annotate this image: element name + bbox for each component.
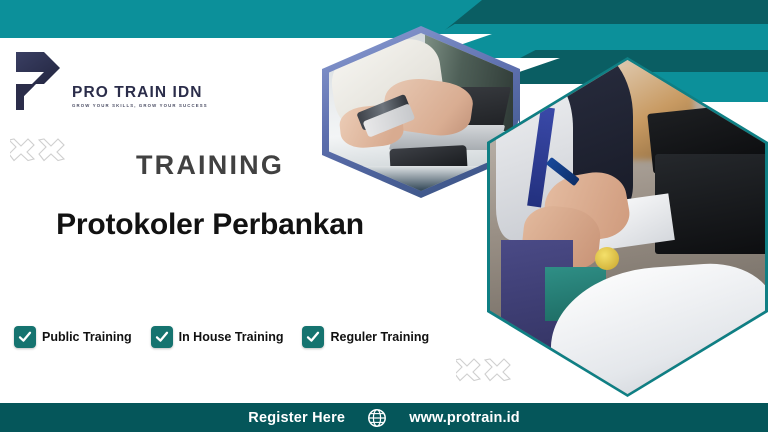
register-here-label[interactable]: Register Here	[248, 410, 345, 426]
x-cross-pattern-right	[456, 356, 518, 382]
badge-label: In House Training	[179, 330, 284, 344]
photo-bank-office	[490, 60, 765, 394]
brand-logo: PRO TRAIN IDN GROW YOUR SKILLS, GROW YOU…	[14, 50, 208, 112]
training-banner: PRO TRAIN IDN GROW YOUR SKILLS, GROW YOU…	[0, 0, 768, 432]
badge-label: Reguler Training	[330, 330, 429, 344]
check-icon	[151, 326, 173, 348]
hexagon-photo-inner	[490, 60, 765, 394]
hexagon-photo-office	[487, 57, 768, 397]
globe-icon	[367, 408, 387, 428]
check-icon	[14, 326, 36, 348]
training-type-badges: Public Training In House Training Regule…	[14, 326, 429, 348]
website-url[interactable]: www.protrain.id	[409, 410, 520, 426]
page-title: Protokoler Perbankan	[0, 208, 420, 243]
brand-name: PRO TRAIN IDN	[72, 85, 208, 101]
brand-tagline: GROW YOUR SKILLS, GROW YOUR SUCCESS	[72, 103, 208, 108]
badge-label: Public Training	[42, 330, 132, 344]
check-icon	[302, 326, 324, 348]
badge-public-training[interactable]: Public Training	[14, 326, 132, 348]
hexagon-photo-inner	[329, 33, 513, 191]
chevron-arrow-mark-icon	[14, 50, 66, 112]
badge-reguler-training[interactable]: Reguler Training	[302, 326, 429, 348]
badge-in-house-training[interactable]: In House Training	[151, 326, 284, 348]
photo-credit-card-laptop	[329, 33, 513, 191]
footer-bar: Register Here www.protrain.id	[0, 403, 768, 432]
